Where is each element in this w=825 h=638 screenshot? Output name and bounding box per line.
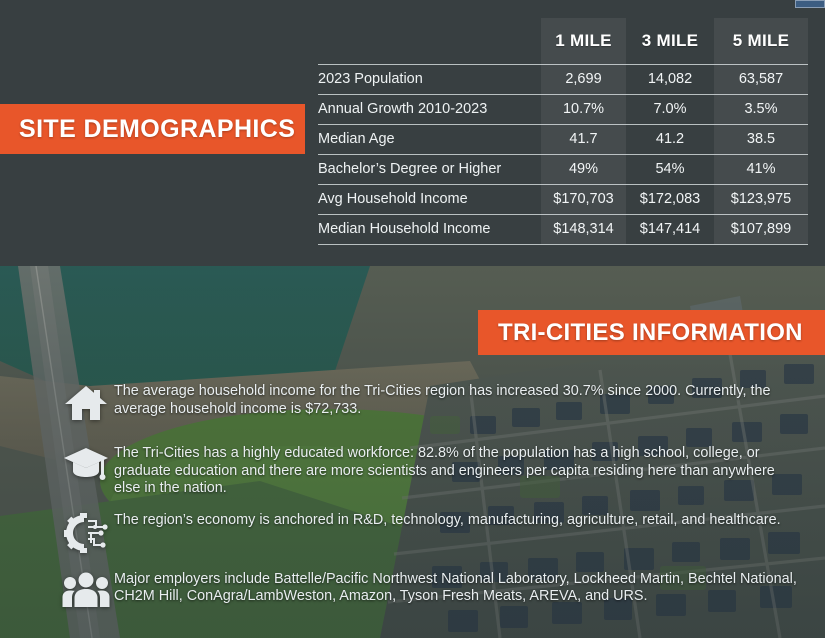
table-header-blank: [318, 18, 541, 64]
row-value-1-mile: $148,314: [541, 214, 626, 244]
row-value-1-mile: $170,703: [541, 184, 626, 214]
table-row: 2023 Population 2,699 14,082 63,587: [318, 64, 808, 94]
row-label: Median Household Income: [318, 214, 541, 244]
row-value-5-mile: $123,975: [714, 184, 808, 214]
row-value-3-mile: $147,414: [626, 214, 714, 244]
row-value-3-mile: $172,083: [626, 184, 714, 214]
corner-watermark-artifact: [795, 0, 825, 8]
row-value-3-mile: 41.2: [626, 124, 714, 154]
list-item-text: The Tri-Cities has a highly educated wor…: [114, 444, 818, 498]
row-label: Avg Household Income: [318, 184, 541, 214]
list-item: The region’s economy is anchored in R&D,…: [58, 511, 818, 557]
row-value-1-mile: 41.7: [541, 124, 626, 154]
row-value-5-mile: 38.5: [714, 124, 808, 154]
demographics-table-body: 2023 Population 2,699 14,082 63,587 Annu…: [318, 64, 808, 244]
list-item-text: The average household income for the Tri…: [114, 382, 818, 418]
slide-page: SITE DEMOGRAPHICS 1 MILE 3 MILE 5 MILE: [0, 0, 825, 638]
list-item: The average household income for the Tri…: [58, 382, 818, 428]
row-label: Bachelor’s Degree or Higher: [318, 154, 541, 184]
row-value-1-mile: 10.7%: [541, 94, 626, 124]
row-value-5-mile: 63,587: [714, 64, 808, 94]
list-item-text: The region’s economy is anchored in R&D,…: [114, 511, 818, 530]
table-row: Avg Household Income $170,703 $172,083 $…: [318, 184, 808, 214]
table-header-row: 1 MILE 3 MILE 5 MILE: [318, 18, 808, 64]
tri-cities-information-banner: TRI-CITIES INFORMATION: [478, 310, 825, 355]
table-row: Median Household Income $148,314 $147,41…: [318, 214, 808, 244]
row-value-5-mile: 41%: [714, 154, 808, 184]
row-label: Median Age: [318, 124, 541, 154]
row-value-3-mile: 14,082: [626, 64, 714, 94]
row-value-1-mile: 2,699: [541, 64, 626, 94]
table-row: Median Age 41.7 41.2 38.5: [318, 124, 808, 154]
graduation-cap-icon: [58, 444, 114, 490]
table-header-3-mile: 3 MILE: [626, 18, 714, 64]
table-row: Annual Growth 2010-2023 10.7% 7.0% 3.5%: [318, 94, 808, 124]
list-item: The Tri-Cities has a highly educated wor…: [58, 444, 818, 498]
table-header-5-mile: 5 MILE: [714, 18, 808, 64]
people-group-icon: [58, 570, 114, 616]
demographics-table: 1 MILE 3 MILE 5 MILE 2023 Population 2,6…: [318, 18, 808, 245]
site-demographics-banner: SITE DEMOGRAPHICS: [0, 104, 305, 154]
row-value-3-mile: 54%: [626, 154, 714, 184]
row-label: Annual Growth 2010-2023: [318, 94, 541, 124]
list-item-text: Major employers include Battelle/Pacific…: [114, 570, 818, 606]
row-value-3-mile: 7.0%: [626, 94, 714, 124]
tri-cities-information-title: TRI-CITIES INFORMATION: [478, 319, 803, 347]
site-demographics-section: SITE DEMOGRAPHICS 1 MILE 3 MILE 5 MILE: [0, 0, 825, 266]
list-item: Major employers include Battelle/Pacific…: [58, 570, 818, 616]
row-label: 2023 Population: [318, 64, 541, 94]
gear-circuit-icon: [58, 511, 114, 557]
table-row: Bachelor’s Degree or Higher 49% 54% 41%: [318, 154, 808, 184]
home-icon: [58, 382, 114, 428]
table-header-1-mile: 1 MILE: [541, 18, 626, 64]
tri-cities-info-list: The average household income for the Tri…: [58, 382, 818, 628]
row-value-5-mile: $107,899: [714, 214, 808, 244]
demographics-table-container: 1 MILE 3 MILE 5 MILE 2023 Population 2,6…: [318, 18, 808, 245]
site-demographics-title: SITE DEMOGRAPHICS: [0, 115, 295, 144]
row-value-1-mile: 49%: [541, 154, 626, 184]
row-value-5-mile: 3.5%: [714, 94, 808, 124]
